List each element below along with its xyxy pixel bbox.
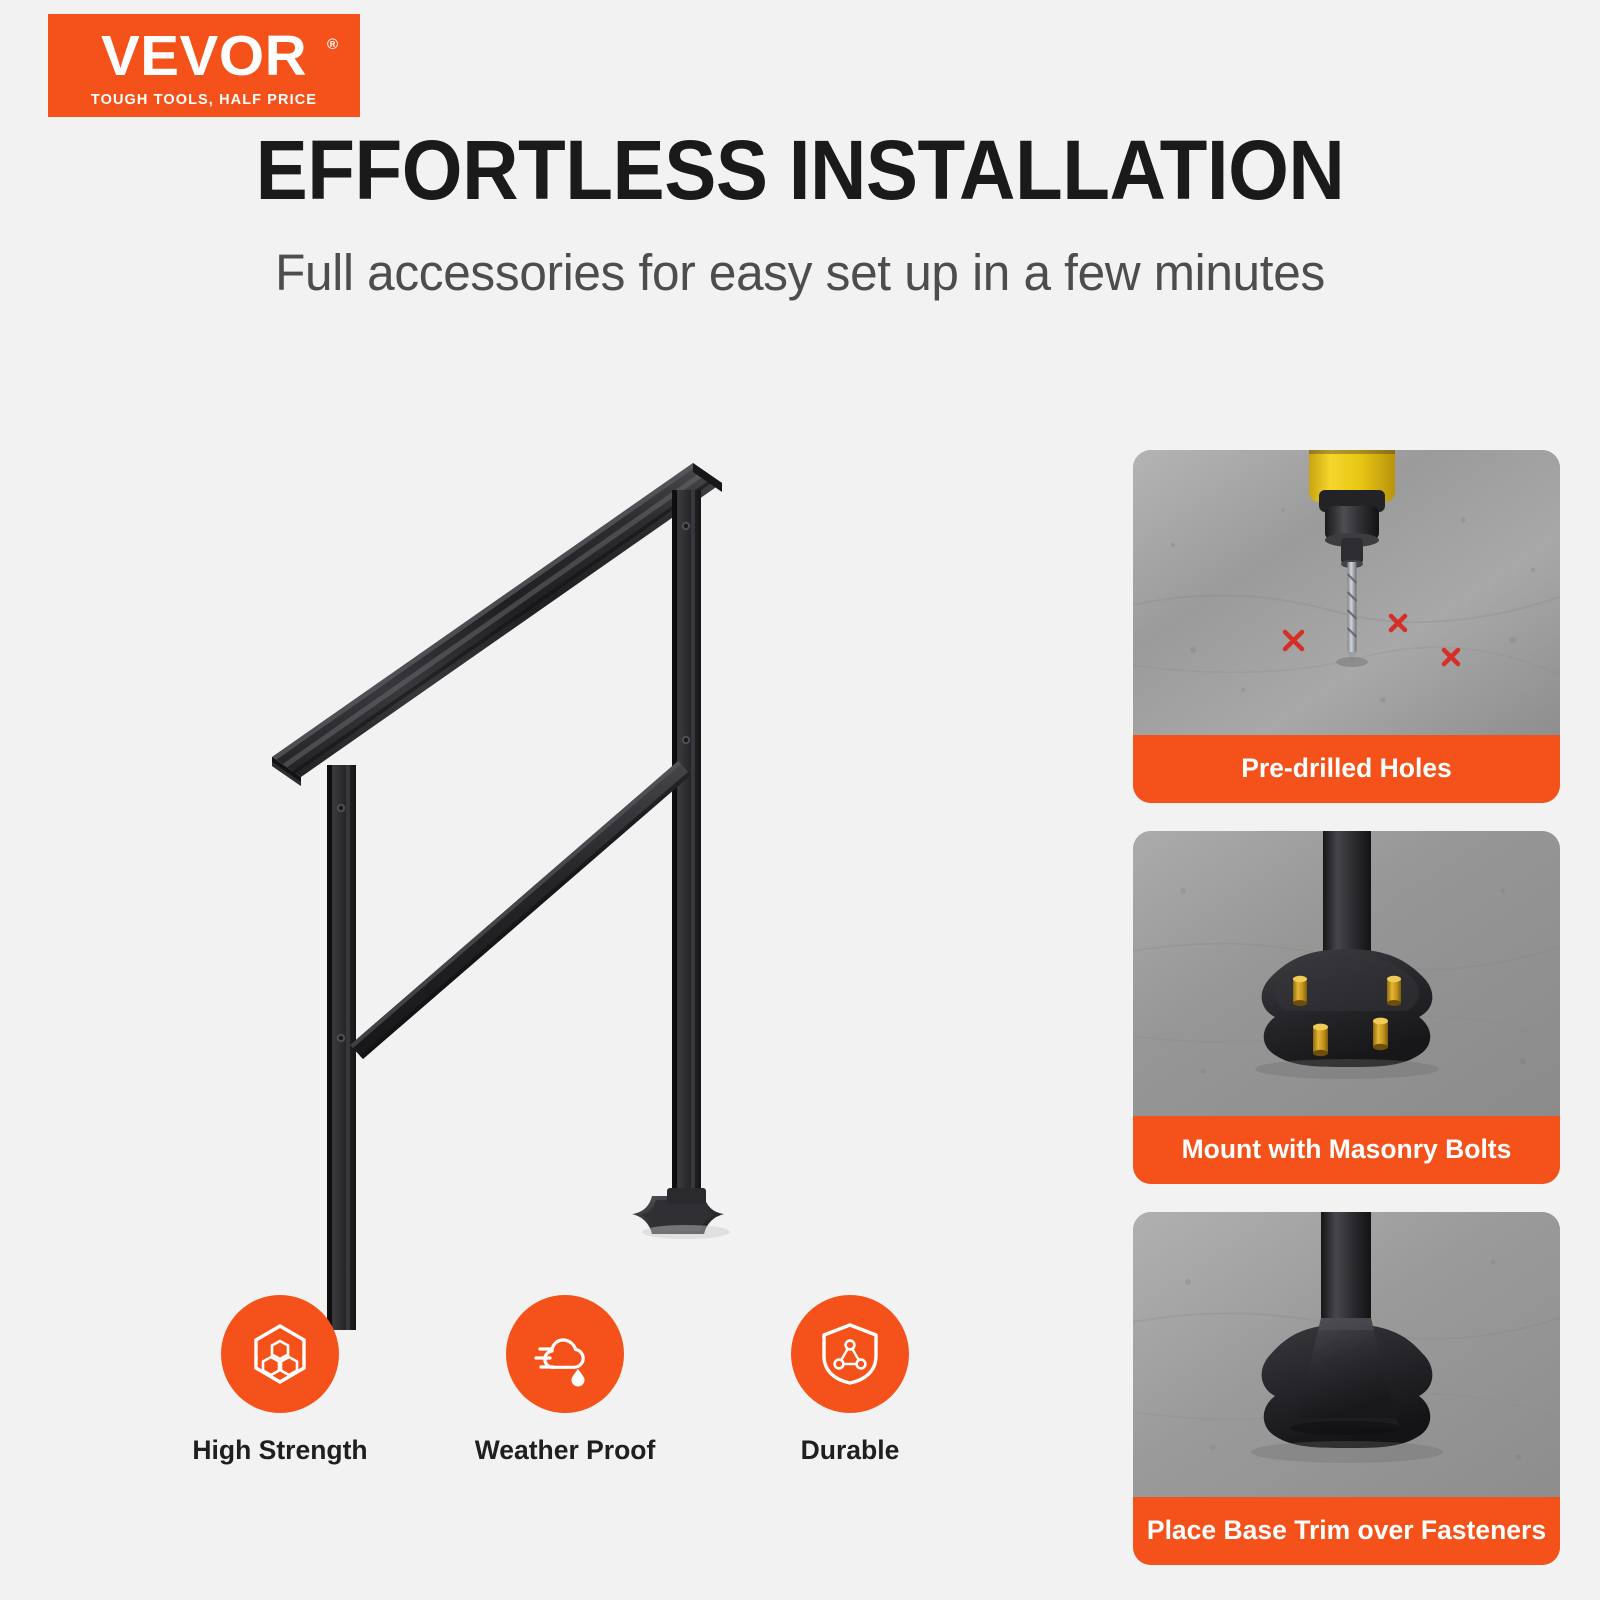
installation-steps-column: Pre-drilled Holes [1133, 450, 1560, 1593]
step-card-pre-drilled-holes: Pre-drilled Holes [1133, 450, 1560, 803]
step-photo-drill-on-concrete [1133, 450, 1560, 735]
feature-item-durable: Durable [720, 1295, 980, 1467]
handrail-left-post [327, 765, 356, 1330]
shield-molecule-icon [818, 1321, 882, 1387]
step-caption: Place Base Trim over Fasteners [1133, 1497, 1560, 1565]
step-photo-base-trim-cover [1133, 1212, 1560, 1497]
handrail-right-post [672, 490, 701, 1198]
feature-badge-row: High Strength Weather Proof [150, 1295, 980, 1467]
page-subtitle: Full accessories for easy set up in a fe… [24, 243, 1576, 302]
product-hero-image [160, 430, 990, 1330]
feature-item-weather-proof: Weather Proof [435, 1295, 695, 1467]
registered-mark-icon: ® [327, 36, 338, 53]
feature-icon-circle [791, 1295, 909, 1413]
handrail-right-base-flange [632, 1188, 730, 1239]
page-title: EFFORTLESS INSTALLATION [56, 128, 1544, 214]
brand-tagline: TOUGH TOOLS, HALF PRICE [91, 92, 317, 108]
cloud-rain-wind-icon [530, 1319, 600, 1389]
feature-label: Weather Proof [475, 1435, 656, 1467]
brand-wordmark: VEVOR [101, 28, 307, 85]
step-card-base-trim: Place Base Trim over Fasteners [1133, 1212, 1560, 1565]
handrail-middle-rail [350, 761, 691, 1059]
step-photo-base-flange-bolts [1133, 831, 1560, 1116]
handrail-top-bar [272, 463, 722, 786]
step-card-masonry-bolts: Mount with Masonry Bolts [1133, 831, 1560, 1184]
step-caption: Mount with Masonry Bolts [1133, 1116, 1560, 1184]
feature-label: Durable [801, 1435, 900, 1467]
feature-icon-circle [506, 1295, 624, 1413]
feature-icon-circle [221, 1295, 339, 1413]
feature-item-high-strength: High Strength [150, 1295, 410, 1467]
brand-logo: VEVOR ® TOUGH TOOLS, HALF PRICE [48, 14, 360, 117]
feature-label: High Strength [192, 1435, 367, 1467]
hexagon-honeycomb-icon [247, 1321, 313, 1387]
step-caption: Pre-drilled Holes [1133, 735, 1560, 803]
